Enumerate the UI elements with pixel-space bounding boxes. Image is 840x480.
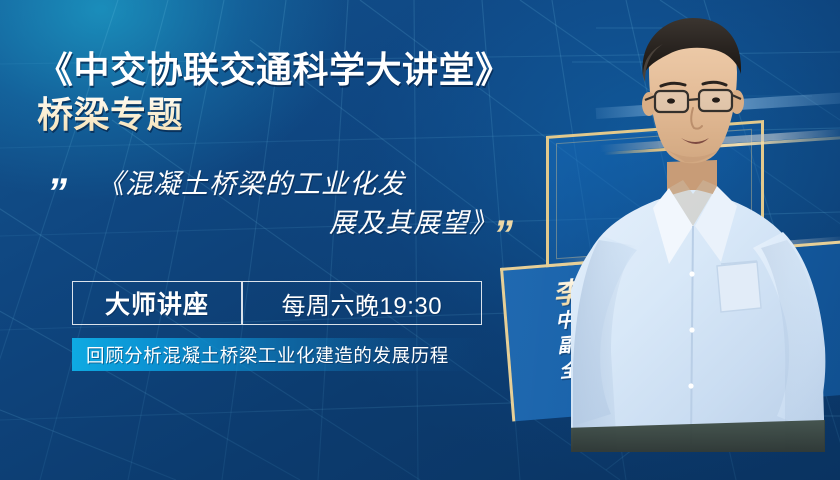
lecture-label: 大师讲座 (73, 282, 241, 324)
quote-close-icon: ” (493, 215, 513, 255)
description-strip: 回顾分析混凝土桥梁工业化建造的发展历程 (72, 338, 484, 371)
page-title: 《中交协联交通科学大讲堂》 桥梁专题 (37, 48, 537, 137)
title-line-2: 桥梁专题 (37, 93, 537, 138)
description-text: 回顾分析混凝土桥梁工业化建造的发展历程 (72, 342, 449, 368)
promo-banner: 李军平 中铁宝桥集团有限公司 副总工程师 全国钢结构大师 (0, 0, 840, 480)
quote-open-icon: ” (47, 173, 67, 213)
lecture-topic-line-2: 展及其展望》 (97, 204, 501, 243)
text-column: 《中交协联交通科学大讲堂》 桥梁专题 ” 《混凝土桥梁的工业化发 展及其展望》 … (0, 0, 530, 480)
subtitle-block: ” 《混凝土桥梁的工业化发 展及其展望》 ” (45, 165, 535, 270)
lecture-topic: 《混凝土桥梁的工业化发 展及其展望》 (97, 165, 501, 243)
lecture-schedule-box: 大师讲座 每周六晚19:30 (72, 281, 482, 325)
speaker-portrait (571, 12, 840, 452)
title-line-1: 《中交协联交通科学大讲堂》 (37, 49, 512, 90)
lecture-topic-line-1: 《混凝土桥梁的工业化发 (97, 165, 501, 204)
lecture-schedule: 每周六晚19:30 (243, 282, 481, 324)
